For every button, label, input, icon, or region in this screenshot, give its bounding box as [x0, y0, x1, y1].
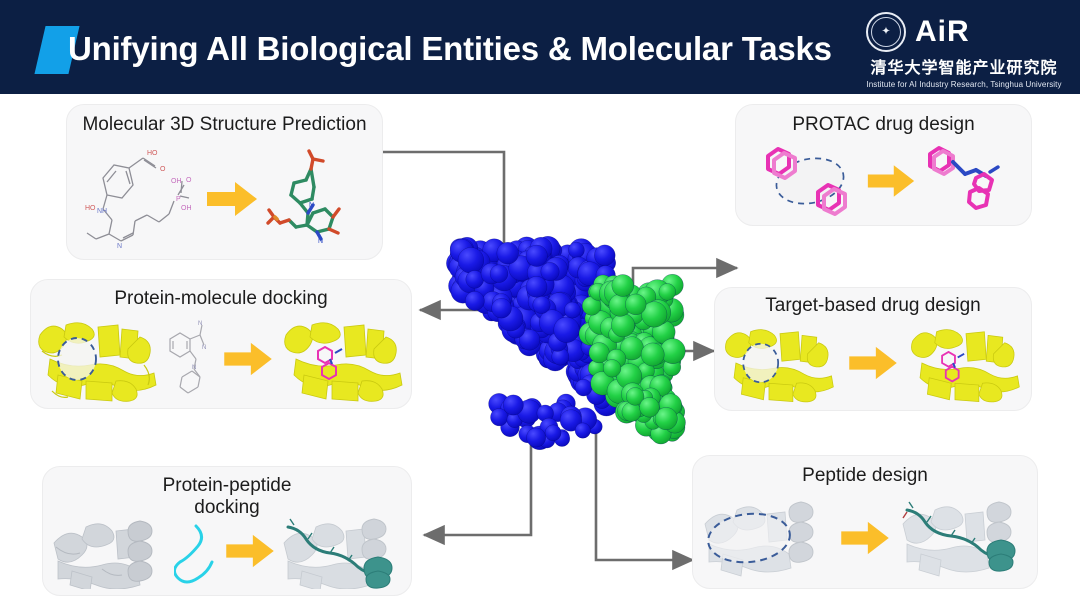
svg-text:N: N	[198, 321, 202, 327]
svg-text:N: N	[117, 243, 122, 250]
figure-protac-molecule-model	[924, 142, 1008, 220]
svg-text:N: N	[309, 202, 314, 209]
svg-text:OH: OH	[171, 178, 182, 185]
figure-yellow-protein-with-pocket	[36, 315, 160, 403]
tsinghua-seal-icon: ✦	[866, 12, 906, 52]
svg-text:N: N	[202, 345, 206, 351]
panel-title: Molecular 3D Structure Prediction	[67, 114, 382, 136]
figure-3d-stick-model: NN	[265, 147, 369, 251]
panel-title: Peptide design	[693, 465, 1037, 487]
figure-small-molecule-2d: NNN	[164, 319, 214, 399]
svg-text:N: N	[318, 238, 323, 245]
svg-text:O: O	[160, 166, 166, 173]
panel-peptide-design[interactable]: Peptide design	[692, 455, 1038, 589]
svg-text:OH: OH	[181, 205, 192, 212]
figure-yellow-protein-with-pocket	[723, 321, 837, 405]
yellow-right-arrow	[839, 519, 891, 557]
yellow-right-arrow	[224, 532, 276, 570]
panel-molecular-3d-structure-prediction[interactable]: Molecular 3D Structure Prediction	[66, 104, 383, 260]
center-protein-model	[440, 218, 690, 473]
binding-pocket-dashed-outline	[743, 344, 778, 383]
figure-gray-protein-with-teal-peptide	[901, 498, 1027, 578]
figure-yellow-protein-with-bound-ligand	[282, 315, 406, 403]
svg-text:O: O	[186, 177, 192, 184]
figure-two-magenta-rings-dashed-linker	[760, 142, 858, 220]
yellow-right-arrow	[205, 179, 259, 219]
alpha-helix	[128, 521, 152, 581]
yellow-right-arrow	[866, 162, 916, 200]
air-logo: ✦ AiR 清华大学智能产业研究院 Institute for AI Indus…	[866, 12, 1062, 86]
figure-cyan-peptide-chain	[174, 516, 218, 586]
panel-protein-molecule-docking[interactable]: Protein-molecule docking	[30, 279, 412, 409]
logo-english-name: Institute for AI Industry Research, Tsin…	[866, 80, 1062, 89]
svg-text:N: N	[192, 365, 196, 371]
figure-gray-protein-and-cyan-peptide	[52, 513, 172, 589]
figure-yellow-protein-with-designed-ligand	[909, 321, 1023, 405]
seal-star-icon: ✦	[881, 27, 890, 38]
figure-gray-protein-with-dashed-region	[703, 498, 829, 578]
panel-title: PROTAC drug design	[736, 114, 1031, 136]
panel-title: Protein-molecule docking	[31, 288, 411, 310]
yellow-right-arrow	[847, 344, 899, 382]
page-title: Unifying All Biological Entities & Molec…	[68, 30, 832, 68]
panel-protein-peptide-docking[interactable]: Protein-peptide docking	[42, 466, 412, 596]
panel-protac-drug-design[interactable]: PROTAC drug design	[735, 104, 1032, 226]
svg-text:P: P	[176, 196, 181, 203]
binding-pocket-dashed-outline	[58, 338, 96, 380]
panel-title: Target-based drug design	[715, 295, 1031, 317]
svg-text:HO: HO	[147, 150, 158, 157]
figure-gray-protein-with-teal-peptide	[282, 513, 402, 589]
yellow-right-arrow	[222, 340, 274, 378]
panel-title: Protein-peptide	[43, 475, 411, 497]
svg-text:NH: NH	[97, 208, 107, 215]
title-banner: Unifying All Biological Entities & Molec…	[0, 0, 1080, 94]
logo-chinese-name: 清华大学智能产业研究院	[866, 54, 1062, 78]
figure-2d-chemical-structure: HOO HO OHO POH NHN	[81, 147, 199, 251]
panel-target-based-drug-design[interactable]: Target-based drug design	[714, 287, 1032, 411]
logo-wordmark: AiR	[915, 17, 970, 47]
svg-text:HO: HO	[85, 205, 96, 212]
peptide-helix	[364, 557, 392, 588]
